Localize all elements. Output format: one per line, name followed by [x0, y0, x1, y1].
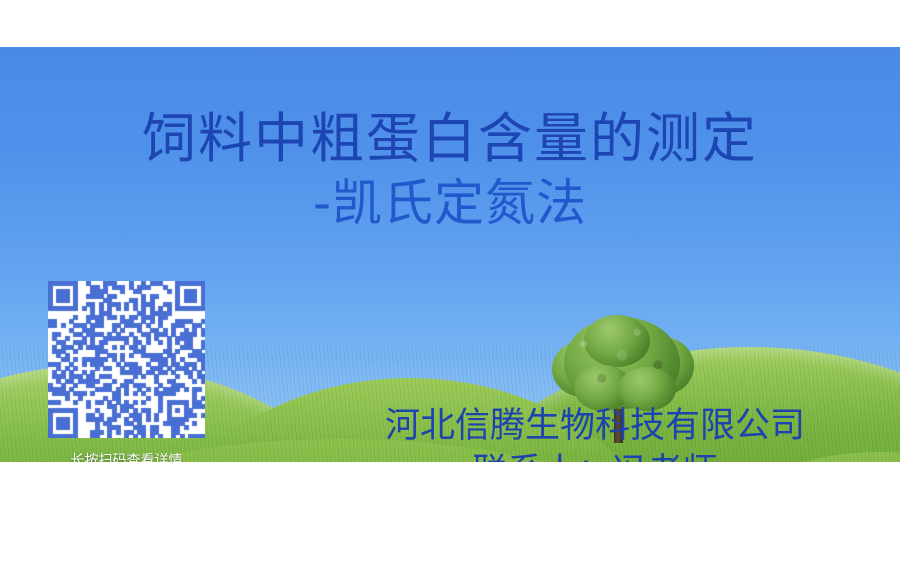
video-stage[interactable]: 饲料中粗蛋白含量的测定 -凯氏定氮法 河北信腾生物科技有限公司 联系人：冯老师 …	[0, 47, 900, 509]
page-background-below-video	[0, 462, 900, 561]
qr-code-block[interactable]: 长按扫码查看详情	[48, 281, 205, 470]
slide-title-block: 饲料中粗蛋白含量的测定 -凯氏定氮法	[0, 107, 900, 233]
page-title: 饲料中粗蛋白含量的测定	[0, 107, 900, 171]
contact-company: 河北信腾生物科技有限公司	[290, 405, 900, 447]
video-player-page: 饲料中粗蛋白含量的测定 -凯氏定氮法 河北信腾生物科技有限公司 联系人：冯老师 …	[0, 0, 900, 561]
tree-canopy-top	[584, 315, 650, 367]
qr-code-image[interactable]	[48, 281, 205, 438]
qr-code-panel[interactable]	[48, 281, 205, 438]
page-subtitle: -凯氏定氮法	[0, 173, 900, 233]
